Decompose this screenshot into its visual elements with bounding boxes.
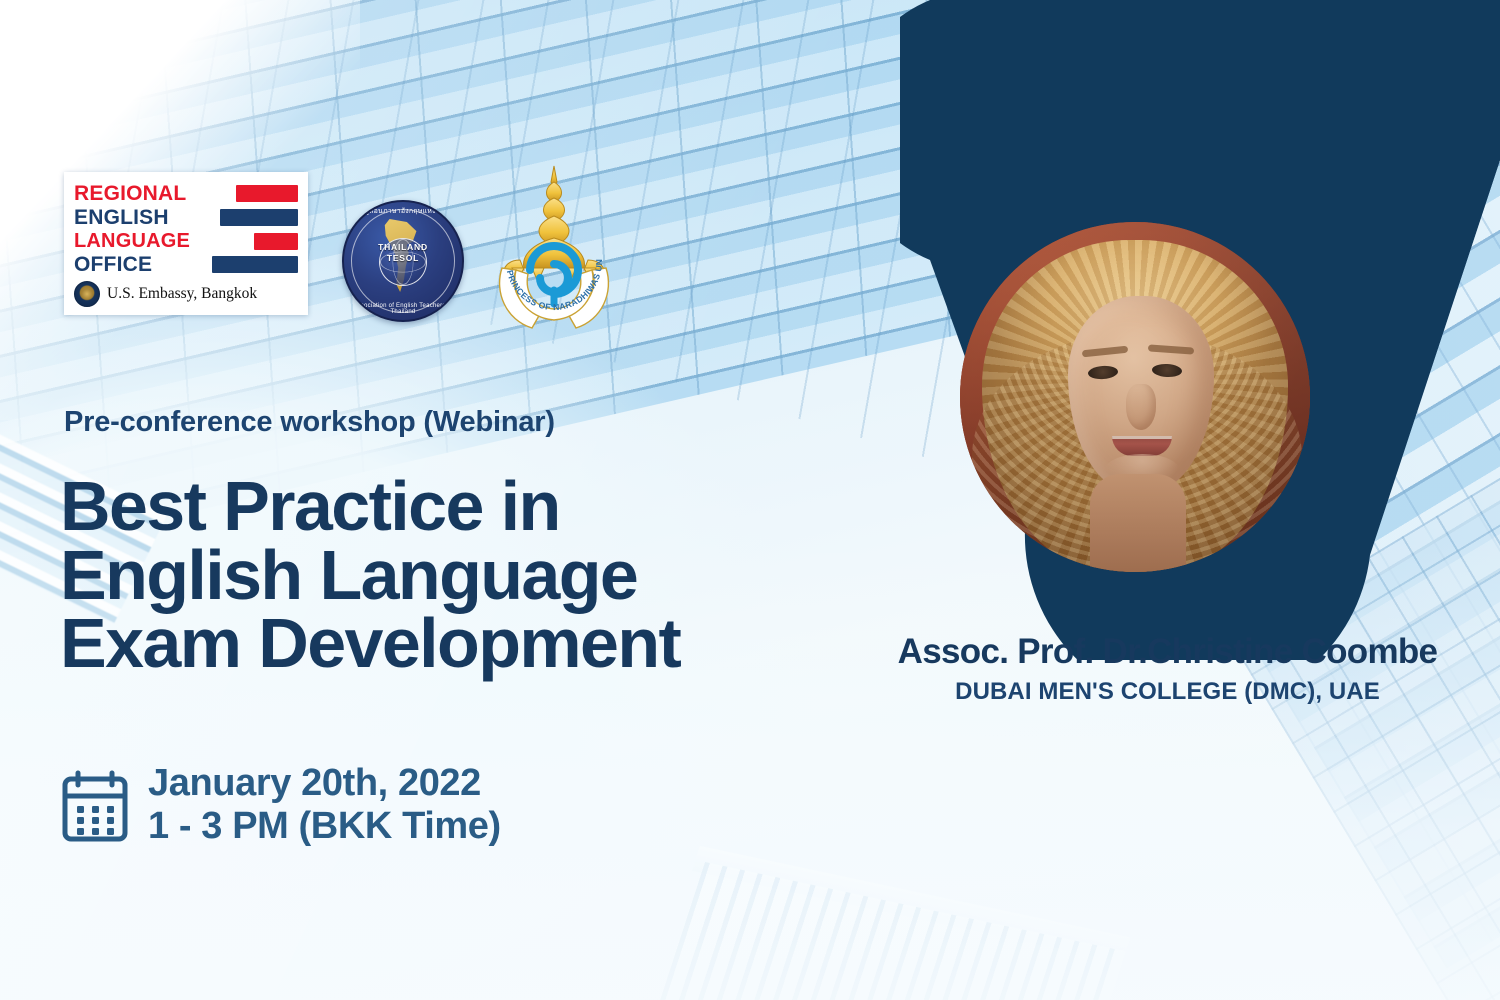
event-date: January 20th, 2022 [148,762,501,805]
relo-bar-red-1 [236,185,298,202]
event-time: 1 - 3 PM (BKK Time) [148,805,501,848]
relo-logo: REGIONAL ENGLISH LANGUAGE OFFICE U.S. Em… [64,172,308,315]
relo-line-4: OFFICE [74,254,298,275]
relo-word-language: LANGUAGE [74,231,190,251]
title-line-1: Best Practice in [60,472,890,541]
tesol-name: THAILAND TESOL [344,242,462,263]
partner-logos: REGIONAL ENGLISH LANGUAGE OFFICE U.S. Em… [64,172,624,332]
relo-bar-blue-1 [220,209,298,226]
kicker-text: Pre-conference workshop (Webinar) [64,406,555,439]
page-title: Best Practice in English Language Exam D… [60,472,890,678]
title-line-3: Exam Development [60,609,890,678]
princess-of-naradhiwas-university-crest-icon: PRINCESS OF NARADHIWAS UNIVERSITY [484,164,624,332]
date-time-text: January 20th, 2022 1 - 3 PM (BKK Time) [148,762,501,847]
relo-bar-blue-2 [212,256,298,273]
relo-word-office: OFFICE [74,254,152,275]
relo-line-3: LANGUAGE [74,231,298,251]
relo-embassy-label: U.S. Embassy, Bangkok [107,285,257,303]
relo-line-1: REGIONAL [74,183,298,204]
date-time-block: January 20th, 2022 1 - 3 PM (BKK Time) [62,762,501,847]
speaker-affiliation: DUBAI MEN'S COLLEGE (DMC), UAE [845,678,1490,706]
relo-word-english: ENGLISH [74,207,169,228]
tesol-name-line1: THAILAND [378,242,428,252]
speaker-portrait [960,222,1310,572]
relo-footer: U.S. Embassy, Bangkok [74,281,298,307]
thailand-tesol-seal-icon: สมาคมครูผู้สอนภาษาอังกฤษแห่งประเทศไทย TH… [342,200,464,322]
webinar-promo-poster: REGIONAL ENGLISH LANGUAGE OFFICE U.S. Em… [0,0,1500,1000]
title-line-2: English Language [60,541,890,610]
relo-line-2: ENGLISH [74,207,298,228]
tesol-rim-text: Association of English Teachers in Thail… [344,303,462,315]
tesol-thai-text: สมาคมครูผู้สอนภาษาอังกฤษแห่งประเทศไทย [342,206,464,217]
tesol-name-line2: TESOL [387,253,419,263]
speaker-name: Assoc. Prof. Dr.Christine Coombe [845,634,1490,671]
calendar-icon [62,770,128,842]
relo-bar-red-2 [254,233,298,250]
speaker-block: Assoc. Prof. Dr.Christine Coombe DUBAI M… [845,634,1490,706]
portrait-shading [960,222,1310,572]
us-department-of-state-seal-icon [74,281,100,307]
relo-word-regional: REGIONAL [74,183,186,204]
